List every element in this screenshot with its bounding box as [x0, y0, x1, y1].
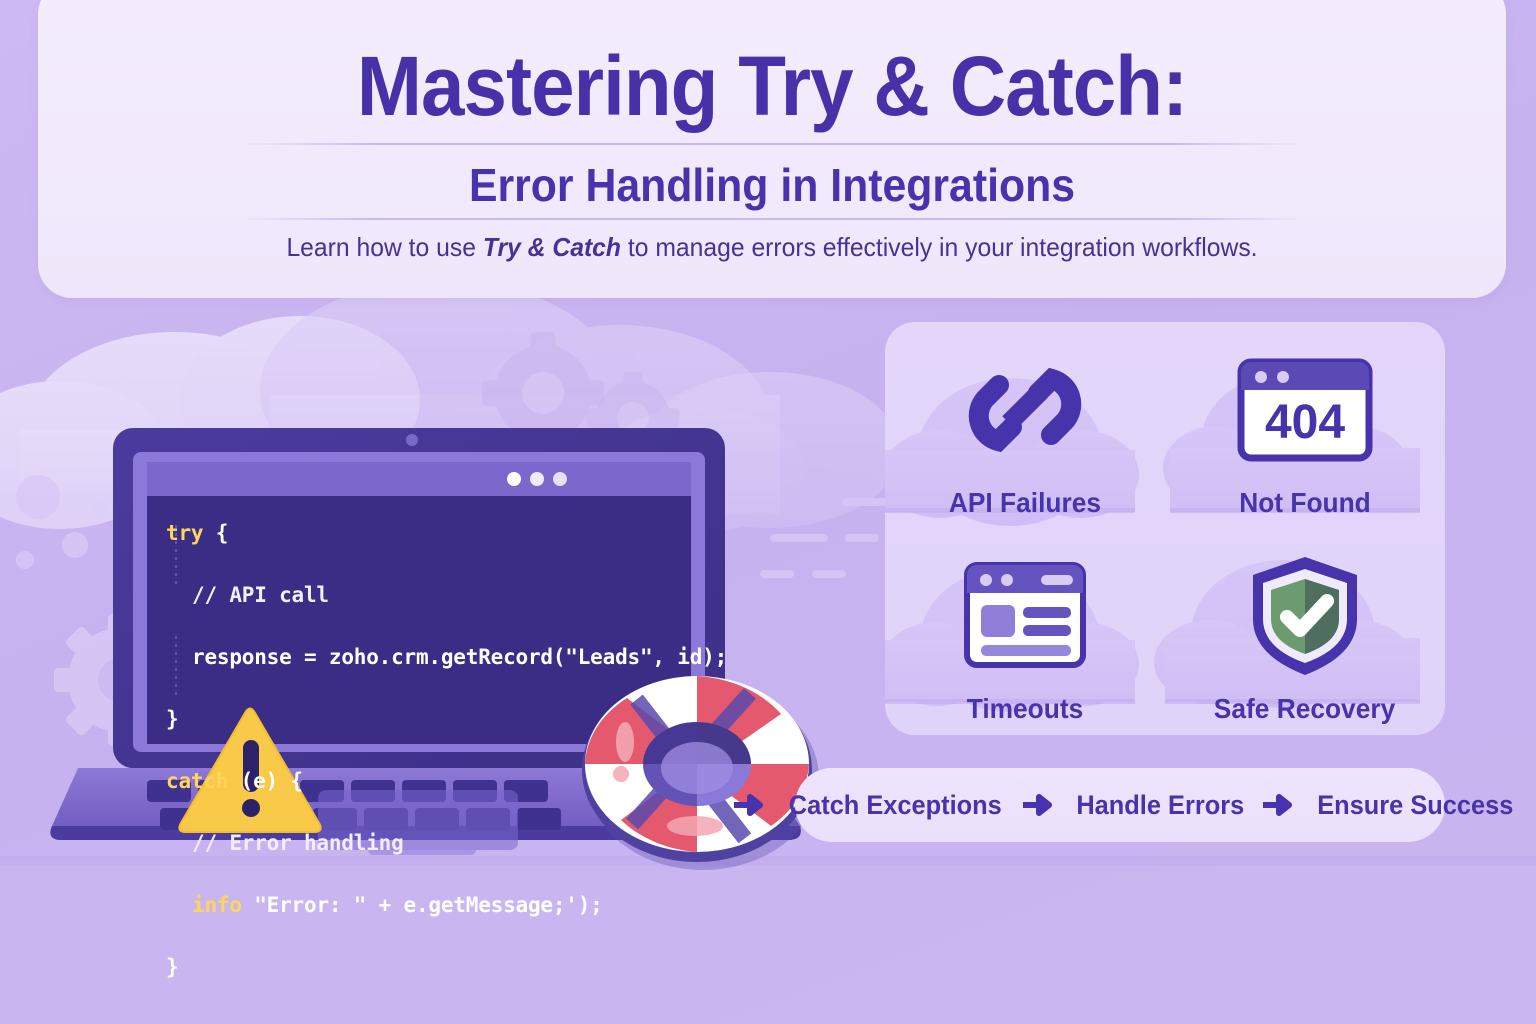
title-divider-top — [248, 143, 1296, 145]
title-divider-bottom — [248, 218, 1296, 220]
arrow-right-icon — [734, 794, 768, 816]
feature-card-api-failures[interactable]: API Failures — [885, 322, 1165, 529]
code-text: } — [166, 707, 178, 731]
code-rest: (e) { — [228, 769, 303, 793]
page-subtitle: Error Handling in Integrations — [89, 158, 1454, 212]
code-line: info "Error: " + e.getMessage;'); — [166, 890, 686, 921]
infographic-canvas: Mastering Try & Catch: Error Handling in… — [0, 0, 1536, 1024]
code-line: // API call — [166, 580, 686, 611]
feature-card-safe-recovery[interactable]: Safe Recovery — [1165, 529, 1445, 736]
code-line: } — [166, 704, 686, 735]
feature-label: Safe Recovery — [1214, 693, 1395, 725]
process-flow-bar: Catch Exceptions Handle Errors Ensure Su… — [795, 768, 1445, 842]
code-comment: // API call — [192, 583, 329, 607]
feature-panel: API Failures 404 Not Found — [885, 322, 1445, 735]
code-line: catch (e) { — [166, 766, 686, 797]
header-panel: Mastering Try & Catch: Error Handling in… — [38, 0, 1506, 298]
code-line: try { — [166, 518, 686, 549]
feature-label: Not Found — [1239, 487, 1371, 519]
page-title: Mastering Try & Catch: — [89, 38, 1454, 135]
code-rest: { — [203, 521, 228, 545]
code-editor-content: try { // API call response = zoho.crm.ge… — [166, 487, 686, 1024]
feature-card-timeouts[interactable]: Timeouts — [885, 529, 1165, 736]
decor-circle — [16, 551, 34, 569]
arrow-right-icon — [1263, 794, 1297, 816]
decor-circle — [62, 532, 88, 558]
window-dot — [530, 472, 544, 486]
code-keyword-info: info — [192, 893, 242, 917]
code-keyword-catch: catch — [166, 769, 228, 793]
code-line: response = zoho.crm.getRecord("Leads", i… — [166, 642, 686, 673]
tagline-after: to manage errors effectively in your int… — [621, 232, 1258, 262]
flow-step-2[interactable]: Handle Errors — [1076, 790, 1244, 821]
code-text: response = zoho.crm.getRecord("Leads", i… — [192, 645, 727, 669]
arrow-right-icon — [1023, 794, 1057, 816]
chain-link-icon — [940, 335, 1110, 485]
decor-circle — [16, 475, 60, 519]
tagline-before: Learn how to use — [286, 232, 482, 262]
window-dot — [507, 472, 521, 486]
feature-label: Timeouts — [967, 693, 1084, 725]
feature-card-not-found[interactable]: 404 Not Found — [1165, 322, 1445, 529]
code-keyword-try: try — [166, 521, 203, 545]
code-text: } — [166, 955, 178, 979]
decor-circle — [92, 502, 108, 518]
page-tagline: Learn how to use Try & Catch to manage e… — [75, 232, 1470, 263]
feature-label: API Failures — [949, 487, 1101, 519]
webcam-dot — [406, 434, 418, 446]
error-code-text: 404 — [1265, 396, 1345, 449]
browser-404-icon: 404 — [1220, 335, 1390, 485]
tagline-emphasis: Try & Catch — [483, 232, 621, 262]
window-card-icon — [940, 541, 1110, 691]
code-rest: "Error: " + e.getMessage;'); — [242, 893, 603, 917]
shield-check-icon — [1220, 541, 1390, 691]
flow-step-1[interactable]: Catch Exceptions — [789, 790, 1002, 821]
flow-step-3[interactable]: Ensure Success — [1318, 790, 1514, 821]
code-line: } — [166, 952, 686, 983]
code-line: // Error handling — [166, 828, 686, 859]
window-dot — [553, 472, 567, 486]
code-comment: // Error handling — [192, 831, 404, 855]
